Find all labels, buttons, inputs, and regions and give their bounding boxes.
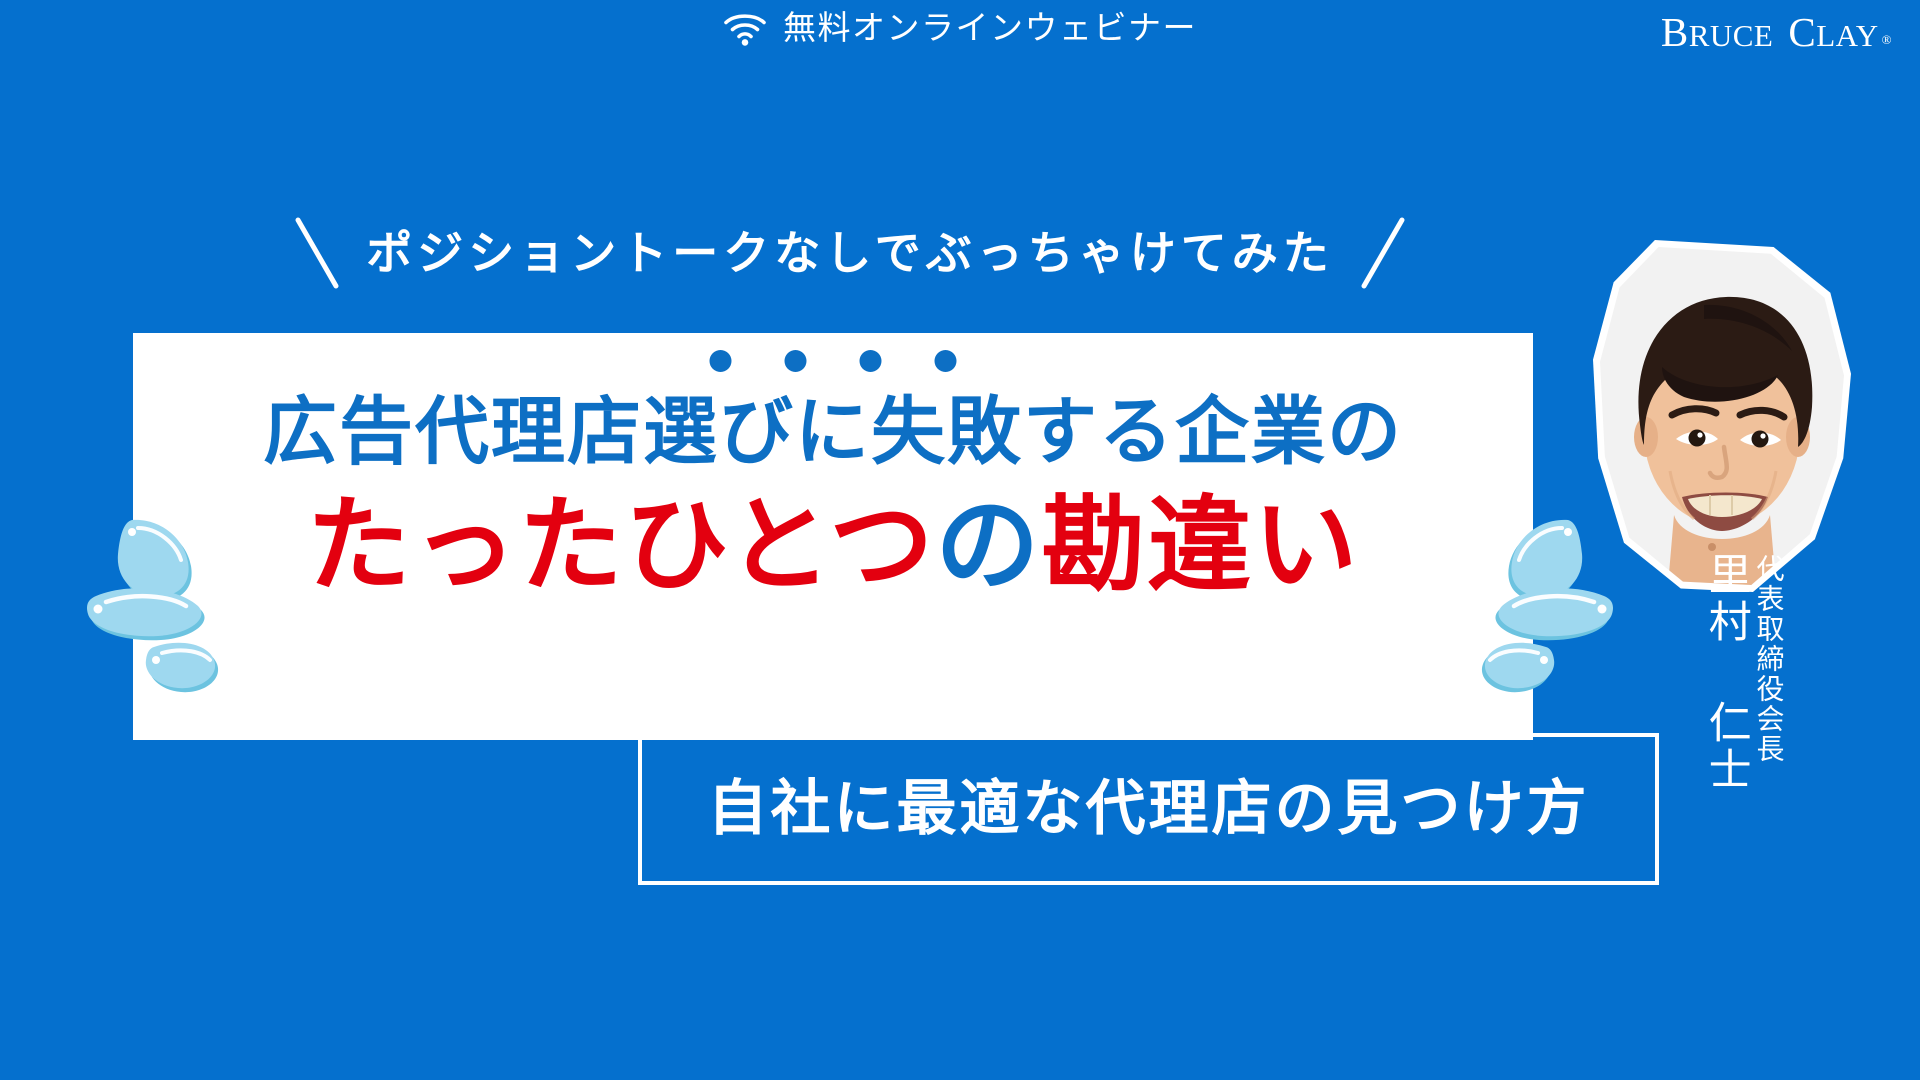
speaker-title: 代表取締役会長 — [1754, 554, 1783, 764]
wifi-icon — [723, 8, 767, 46]
bruce-clay-logo[interactable]: BRUCECLAY® — [1661, 12, 1892, 53]
headline-line-2-part-1: たったひとつ — [307, 483, 936, 606]
registered-mark: ® — [1882, 33, 1892, 46]
headline-panel: 広告代理店選びに失敗する企業の たったひとつの勘違い — [133, 333, 1533, 740]
speaker-name: 里村 仁士 — [1703, 552, 1748, 794]
speaker-block: 里村 仁士 代表取締役会長 — [1575, 240, 1920, 820]
header-title: 無料オンラインウェビナー — [783, 11, 1197, 44]
tagline: ポジショントークなしでぶっちゃけてみた — [150, 214, 1550, 292]
emphasis-dot — [785, 350, 807, 372]
headline-line-1: 広告代理店選びに失敗する企業の — [133, 395, 1533, 469]
brand-word2-rest: LAY — [1816, 20, 1878, 51]
headline-line-2-part-3: 勘違い — [1041, 483, 1359, 606]
webinar-label: 無料オンラインウェビナー — [723, 8, 1197, 46]
slash-right-icon — [1360, 216, 1406, 290]
subtitle-text: 自社に最適な代理店の見つけ方 — [708, 779, 1590, 839]
emphasis-dots — [710, 350, 957, 372]
slide-canvas: 無料オンラインウェビナー BRUCECLAY® ポジショントークなしでぶっちゃけ… — [0, 0, 1920, 1080]
headline-line-2-part-2: の — [935, 483, 1041, 606]
subtitle-box: 自社に最適な代理店の見つけ方 — [638, 733, 1659, 885]
emphasis-dot — [860, 350, 882, 372]
headline-line-2: たったひとつの勘違い — [133, 493, 1533, 597]
slide-header: 無料オンラインウェビナー BRUCECLAY® — [0, 0, 1920, 78]
speaker-portrait — [1593, 240, 1851, 592]
brand-word1-cap: B — [1661, 12, 1689, 53]
speaker-credentials: 里村 仁士 代表取締役会長 — [1703, 552, 1784, 794]
portrait-photo — [1600, 247, 1844, 585]
brand-word2-cap: C — [1788, 12, 1816, 53]
water-droplets-left — [80, 510, 230, 700]
brand-word1-rest: RUCE — [1689, 20, 1774, 51]
emphasis-dot — [710, 350, 732, 372]
emphasis-dot — [935, 350, 957, 372]
tagline-text: ポジショントークなしでぶっちゃけてみた — [366, 230, 1334, 276]
slash-left-icon — [294, 216, 340, 290]
